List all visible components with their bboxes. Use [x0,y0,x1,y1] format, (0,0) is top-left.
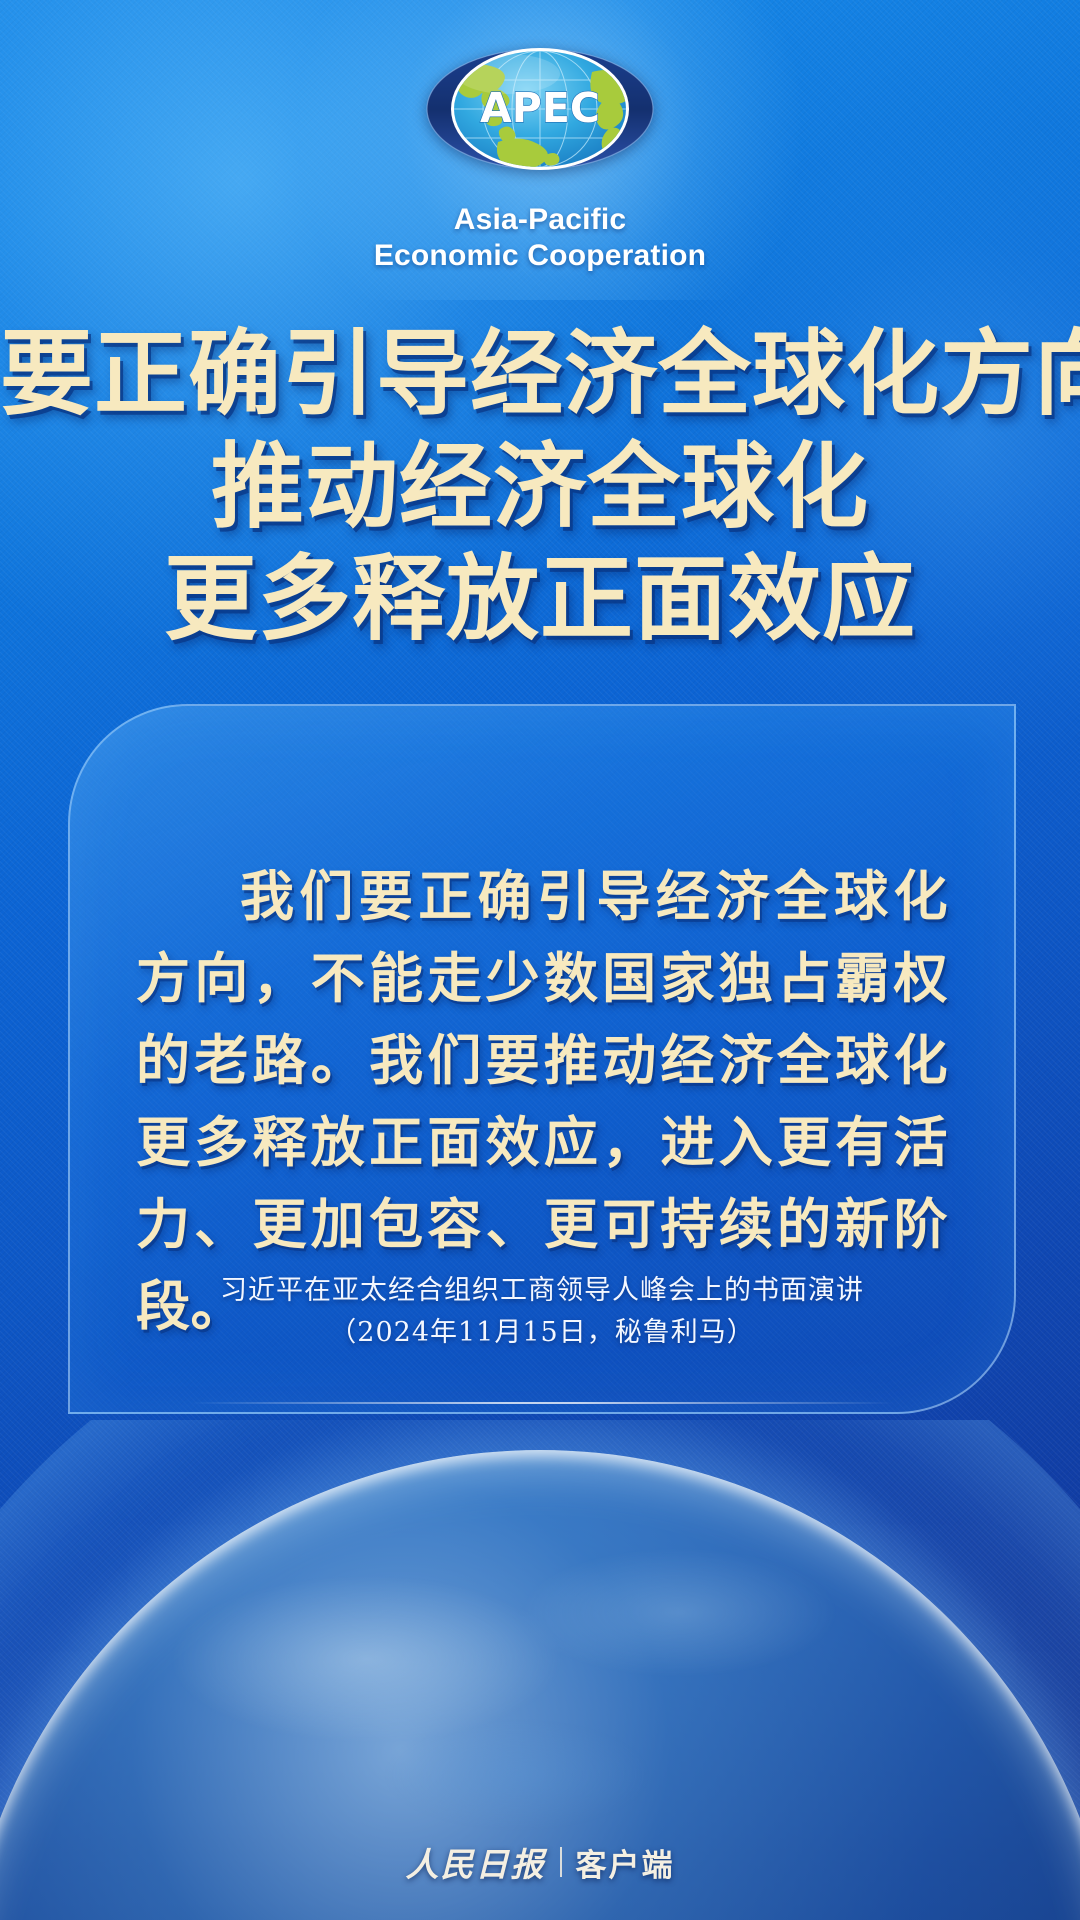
headline-line-1: 要正确引导经济全球化方向 [0,318,1080,431]
app-name: 客户端 [576,1840,675,1885]
publisher-name: 人民日报 [406,1838,546,1886]
headline-line-3: 更多释放正面效应 [0,543,1080,656]
globe-icon: APEC [424,42,656,176]
headline-line-2: 推动经济全球化 [0,431,1080,544]
apec-wordmark: APEC [480,84,600,132]
attribution-line-2: （2024年11月15日，秘鲁利马） [70,1312,1014,1354]
poster-root: APEC Asia-Pacific Economic Cooperation 要… [0,0,1080,1920]
headline: 要正确引导经济全球化方向 推动经济全球化 更多释放正面效应 [0,318,1080,656]
apec-globe: APEC [424,42,656,176]
apec-logo-line1: Asia-Pacific [0,202,1080,238]
quote-card: 我们要正确引导经济全球化方向，不能走少数国家独占霸权的老路。我们要推动经济全球化… [68,704,1016,1414]
attribution-line-1: 习近平在亚太经合组织工商领导人峰会上的书面演讲 [70,1270,1014,1312]
footer-branding: 人民日报 客户端 [0,1838,1080,1886]
apec-logo-block: APEC Asia-Pacific Economic Cooperation [0,42,1080,274]
quote-attribution: 习近平在亚太经合组织工商领导人峰会上的书面演讲 （2024年11月15日，秘鲁利… [70,1270,1014,1354]
card-divider [190,1402,894,1404]
apec-logo-line2: Economic Cooperation [0,238,1080,274]
footer-separator [560,1847,562,1877]
